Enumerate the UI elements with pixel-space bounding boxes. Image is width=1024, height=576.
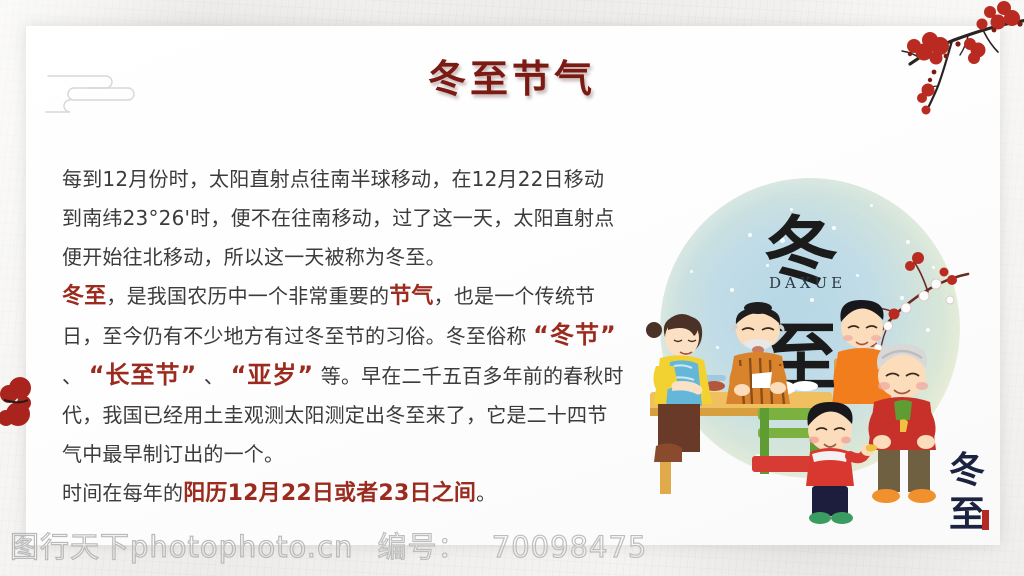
watermark-site: 图行天下photophoto.cn xyxy=(10,530,353,564)
highlight-date: 阳历12月22日或者23日之间 xyxy=(183,481,476,506)
highlight-changzhijie: “长至节” xyxy=(89,361,198,389)
family-dumpling-scene xyxy=(630,280,960,528)
p2-seg8: 、 xyxy=(197,364,230,388)
seal-text: 冬至 xyxy=(949,449,985,535)
highlight-dongzhi: 冬至 xyxy=(62,284,106,309)
watermark-number: 70098475 xyxy=(492,530,648,564)
red-seal-stamp xyxy=(982,510,989,530)
grandmother xyxy=(868,344,936,503)
slide-canvas: 冬至节气 每到12月份时，太阳直射点往南半球移动，在12月22日移动到南纬23°… xyxy=(0,0,1024,576)
paragraph-3: 时间在每年的阳历12月22日或者23日之间。 xyxy=(62,474,624,513)
watermark-label: 编号： xyxy=(378,530,468,564)
child-in-red-coat xyxy=(806,402,878,524)
p3-suffix: 。 xyxy=(476,481,496,505)
plum-blossom-cluster-icon xyxy=(0,370,42,450)
watermark: 图行天下photophoto.cn 编号： 70098475 xyxy=(10,524,647,566)
body-text-column: 每到12月份时，太阳直射点往南半球移动，在12月22日移动到南纬23°26'时，… xyxy=(62,160,624,513)
highlight-jieqi: 节气 xyxy=(389,284,433,309)
paragraph-1: 每到12月份时，太阳直射点往南半球移动，在12月22日移动到南纬23°26'时，… xyxy=(62,160,624,277)
illustration: 冬 DAXUE 至 xyxy=(636,170,1000,545)
highlight-yasui: “亚岁” xyxy=(231,361,315,389)
seal-calligraphy: 冬至 xyxy=(936,448,998,544)
p2-seg6: 、 xyxy=(62,364,89,388)
page-title: 冬至节气 xyxy=(0,48,1024,103)
grandfather xyxy=(726,302,790,404)
paragraph-2: 冬至，是我国农历中一个非常重要的节气，也是一个传统节日，至今仍有不少地方有过冬至… xyxy=(62,277,624,474)
highlight-dongjie: “冬节” xyxy=(533,321,617,349)
p2-seg2: ，是我国农历中一个非常重要的 xyxy=(106,284,389,308)
woman-in-apron xyxy=(646,314,712,462)
paragraph-1-text: 每到12月份时，太阳直射点往南半球移动，在12月22日移动到南纬23°26'时，… xyxy=(62,167,614,269)
p3-prefix: 时间在每年的 xyxy=(62,481,183,505)
